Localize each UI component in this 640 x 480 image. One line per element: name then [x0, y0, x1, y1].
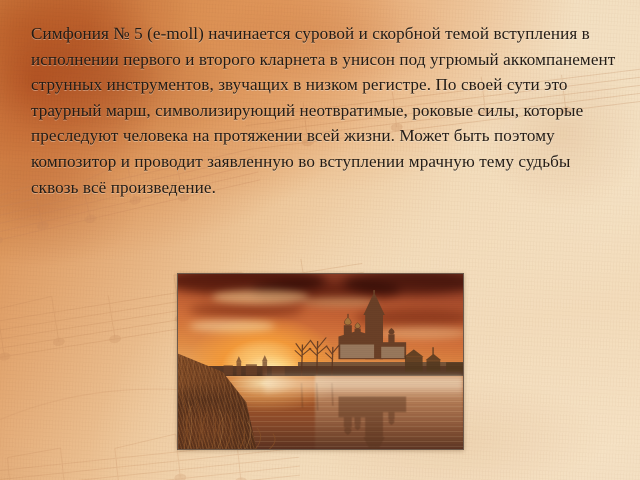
sunset-church-river-photo[interactable] [177, 273, 464, 450]
photo-film-grain [178, 274, 463, 449]
slide-canvas: Симфония № 5 (e-moll) начинается суровой… [0, 0, 640, 480]
photo-content [178, 274, 463, 449]
slide-body-text: Симфония № 5 (e-moll) начинается суровой… [31, 21, 617, 200]
body-paragraph: Симфония № 5 (e-moll) начинается суровой… [31, 21, 617, 200]
